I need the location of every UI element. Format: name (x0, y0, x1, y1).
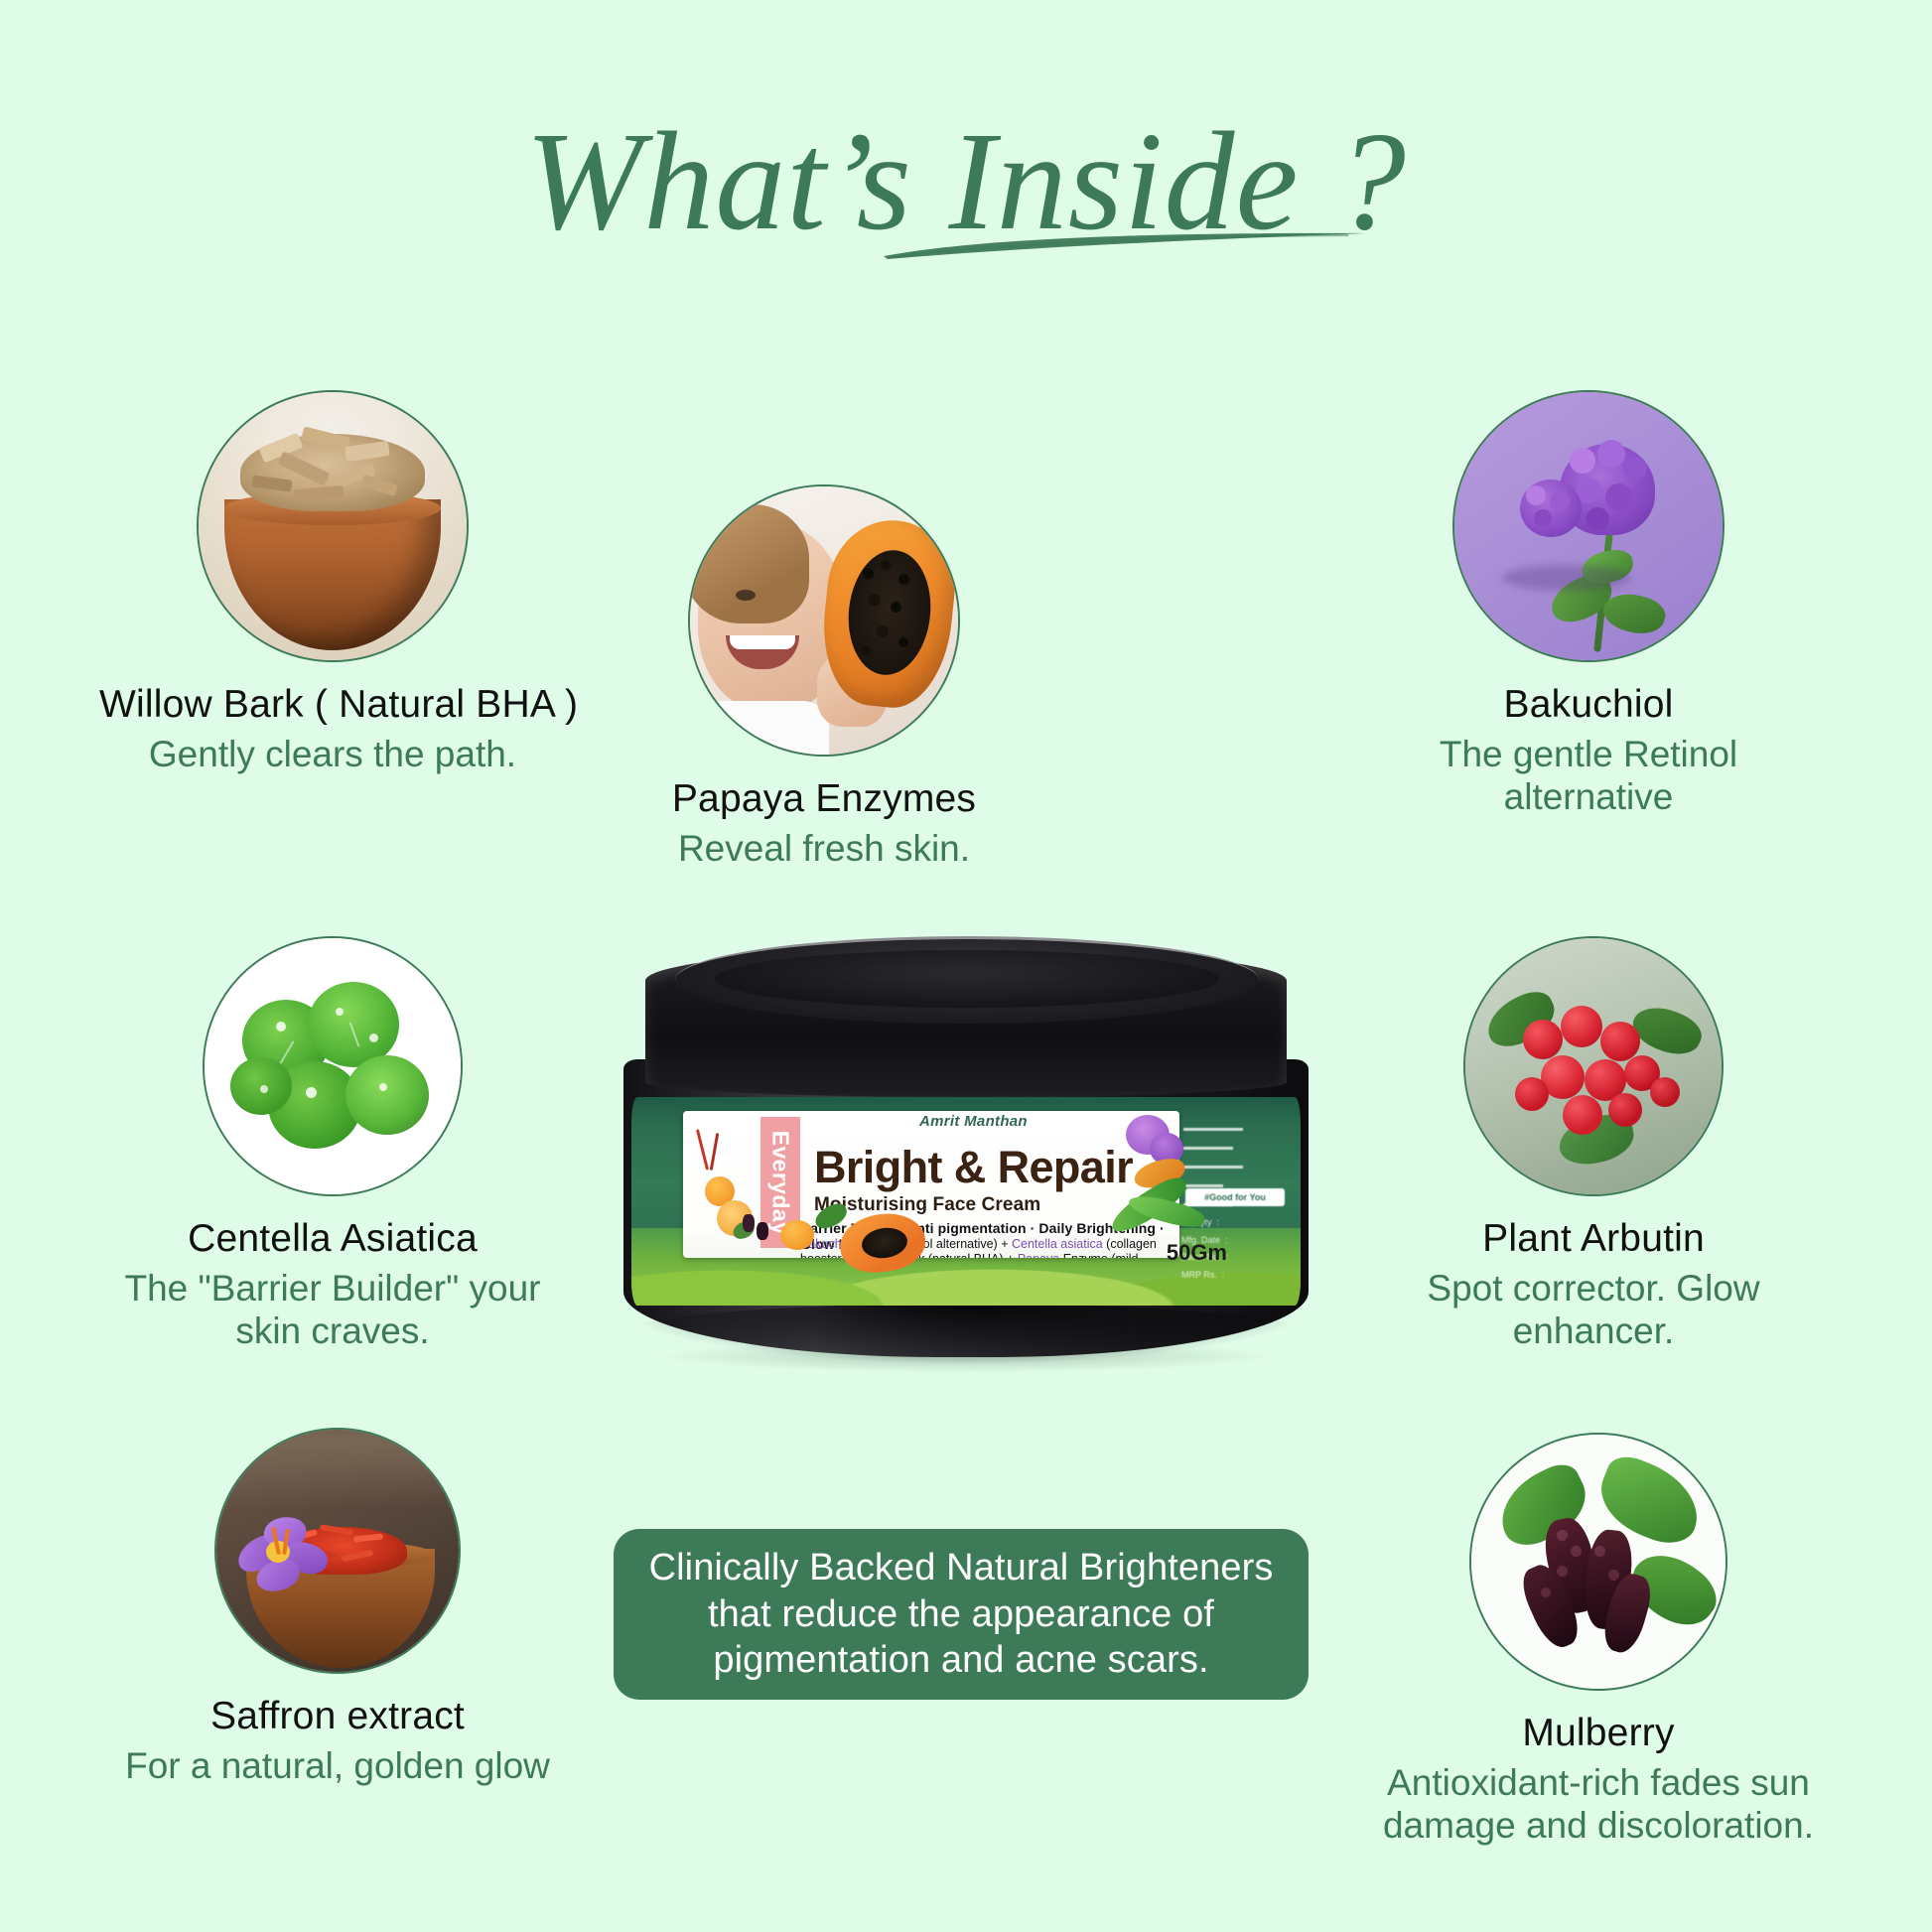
product-subtitle: Moisturising Face Cream (814, 1194, 1152, 1216)
ingredient-centella-text: Centella asiatica (1012, 1237, 1103, 1251)
ingredient-mulberry: Mulberry Antioxidant-rich fades sun dama… (1375, 1435, 1822, 1848)
ingredient-description: Reveal fresh skin. (611, 827, 1037, 871)
bakuchiol-image (1454, 392, 1723, 660)
orange-graphic-label (780, 1220, 814, 1250)
papaya-enzymes-image (690, 486, 958, 755)
ingredient-papaya-text: Papaya (1018, 1252, 1059, 1258)
jar-label: Amrit Manthan Everyday Bright & Repair M… (631, 1097, 1301, 1306)
ingredient-name: Plant Arbutin (1370, 1216, 1817, 1263)
ingredient-description: The gentle Retinol alternative (1355, 733, 1822, 819)
good-for-you-badge: #Good for You (1185, 1188, 1285, 1206)
ingredient-text-1d: (collagen (1103, 1237, 1157, 1251)
brand-logo: Amrit Manthan (919, 1113, 1028, 1130)
plant-arbutin-image (1465, 938, 1722, 1194)
ingredient-name: Bakuchiol (1355, 682, 1822, 729)
ingredient-description: Antioxidant-rich fades sun damage and di… (1375, 1761, 1822, 1848)
mulberry-image (1471, 1435, 1725, 1689)
infographic-canvas: What’s Inside ? Willow Bark ( Natural BH… (0, 0, 1932, 1932)
ingredient-name: Saffron extract (114, 1694, 561, 1740)
ingredient-description: The "Barrier Builder" your skin craves. (94, 1267, 571, 1353)
willow-bark-image (199, 392, 467, 660)
ingredient-centella-asiatica: Centella Asiatica The "Barrier Builder" … (94, 938, 571, 1353)
ingredient-name: Willow Bark ( Natural BHA ) (99, 682, 566, 729)
mulberry-graphic (743, 1214, 755, 1232)
label-white-card: Amrit Manthan Everyday Bright & Repair M… (683, 1111, 1179, 1258)
ingredient-description: For a natural, golden glow (114, 1744, 561, 1788)
ingredient-saffron-extract: Saffron extract For a natural, golden gl… (114, 1430, 561, 1787)
claim-line-3: pigmentation and acne scars. (649, 1637, 1274, 1683)
ingredient-willow-bark: Willow Bark ( Natural BHA ) Gently clear… (99, 392, 566, 775)
ingredient-name: Centella Asiatica (94, 1216, 571, 1263)
jar-lid-inner (715, 950, 1219, 1008)
saffron-thread-graphic-2 (710, 1133, 720, 1171)
claim-banner-text: Clinically Backed Natural Brighteners th… (623, 1545, 1300, 1683)
claim-banner: Clinically Backed Natural Brighteners th… (614, 1529, 1309, 1700)
product-jar: Amrit Manthan Everyday Bright & Repair M… (623, 948, 1309, 1365)
ingredient-name: Mulberry (1375, 1711, 1822, 1757)
mulberry-graphic-2 (757, 1222, 768, 1240)
claim-line-2: that reduce the appearance of (649, 1591, 1274, 1637)
ingredient-name: Papaya Enzymes (611, 776, 1037, 823)
ingredient-bakuchiol: Bakuchiol The gentle Retinol alternative (1355, 392, 1822, 819)
saffron-extract-image (216, 1430, 459, 1672)
title-underline-swoosh (882, 230, 1368, 260)
everyday-tab-label: Everyday (767, 1130, 794, 1235)
ingredient-papaya-enzymes: Papaya Enzymes Reveal fresh skin. (611, 486, 1037, 870)
ingredient-plant-arbutin: Plant Arbutin Spot corrector. Glow enhan… (1370, 938, 1817, 1353)
claim-line-1: Clinically Backed Natural Brighteners (649, 1545, 1274, 1590)
ingredient-description: Spot corrector. Glow enhancer. (1370, 1267, 1817, 1353)
ingredient-description: Gently clears the path. (99, 733, 566, 776)
product-title: Bright & Repair (814, 1145, 1152, 1189)
net-weight: 50Gm (1167, 1240, 1227, 1266)
saffron-thread-graphic (696, 1129, 709, 1170)
centella-asiatica-image (205, 938, 461, 1194)
